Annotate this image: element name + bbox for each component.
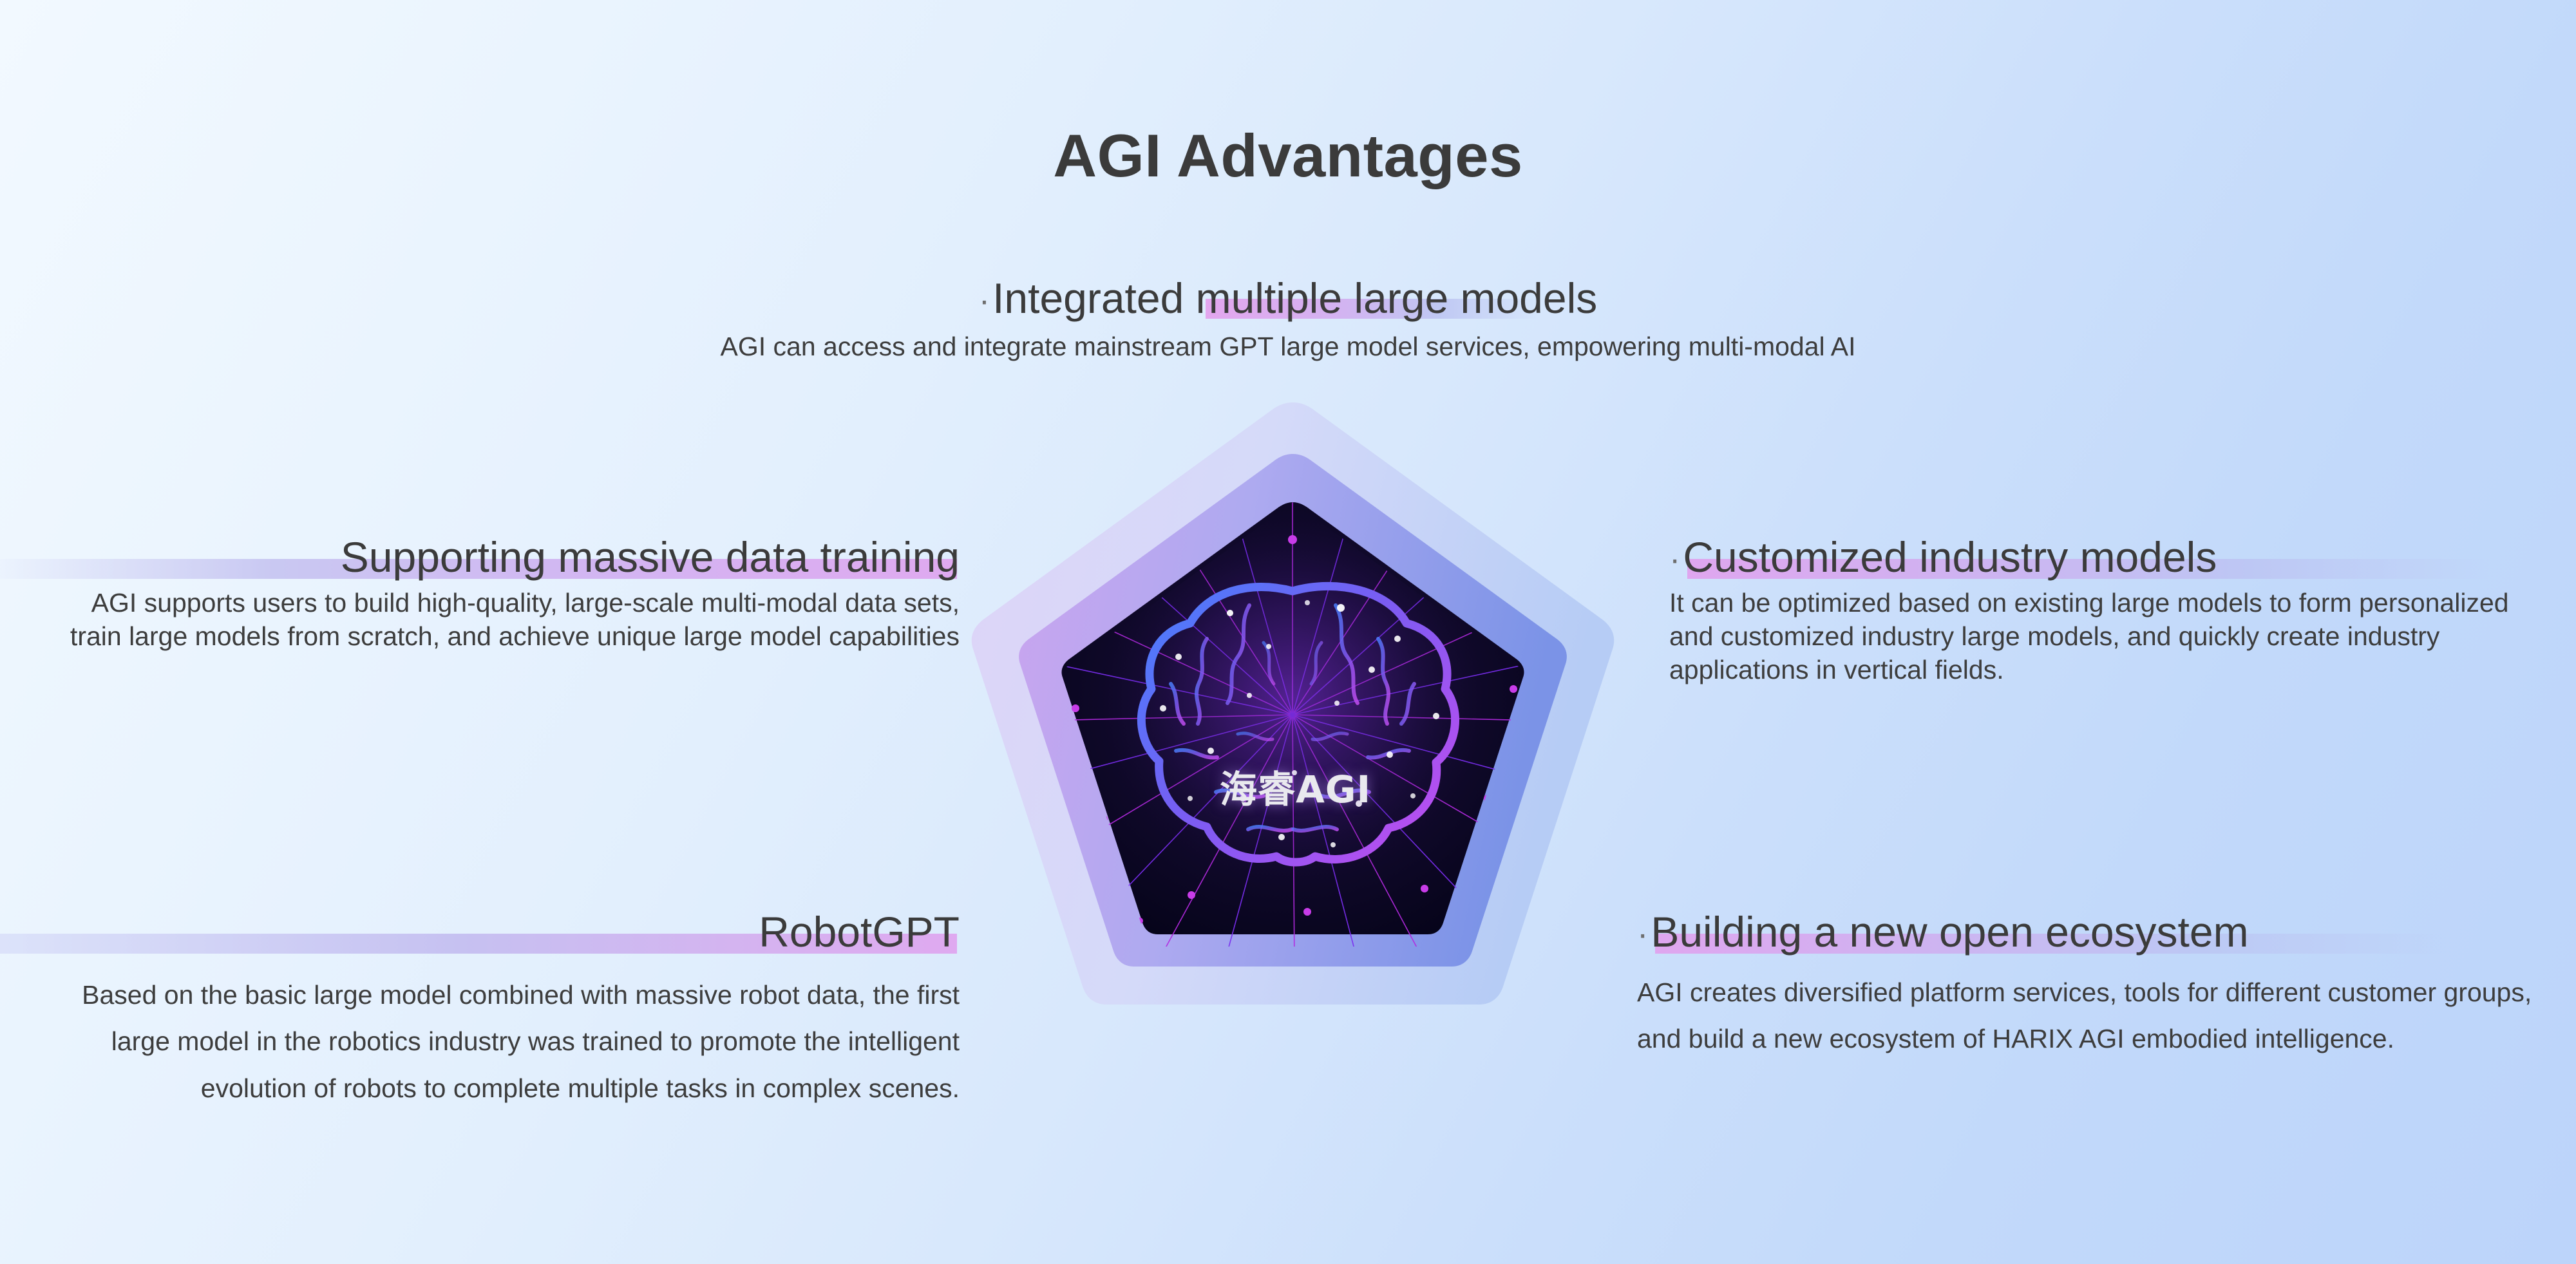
feature-heading-robotgpt: ·RobotGPT bbox=[39, 909, 960, 955]
heading-text: Integrated multiple large models bbox=[992, 274, 1597, 322]
feature-heading-integrated-models: ·Integrated multiple large models bbox=[979, 276, 1598, 321]
feature-block-data-training: ·Supporting massive data training AGI su… bbox=[58, 534, 960, 654]
feature-body-robotgpt: Based on the basic large model combined … bbox=[39, 972, 960, 1111]
bullet-dot-icon: · bbox=[1669, 541, 1683, 578]
feature-block-robotgpt: ·RobotGPT Based on the basic large model… bbox=[39, 909, 960, 1111]
feature-block-open-ecosystem: ·Building a new open ecosystem AGI creat… bbox=[1637, 909, 2539, 1062]
feature-heading-industry-models: ·Customized industry models bbox=[1669, 534, 2545, 580]
heading-text: Customized industry models bbox=[1683, 533, 2217, 581]
feature-heading-open-ecosystem: ·Building a new open ecosystem bbox=[1637, 909, 2539, 955]
feature-body-industry-models: It can be optimized based on existing la… bbox=[1669, 587, 2545, 686]
feature-body-open-ecosystem: AGI creates diversified platform service… bbox=[1637, 969, 2539, 1062]
feature-body-integrated-models: AGI can access and integrate mainstream … bbox=[0, 330, 2576, 364]
heading-text: Supporting massive data training bbox=[341, 533, 960, 581]
heading-text: Building a new open ecosystem bbox=[1651, 908, 2248, 956]
page-title: AGI Advantages bbox=[0, 121, 2576, 191]
bullet-dot-icon: · bbox=[745, 916, 759, 953]
feature-body-data-training: AGI supports users to build high-quality… bbox=[58, 587, 960, 653]
bullet-dot-icon: · bbox=[327, 541, 340, 578]
bullet-dot-icon: · bbox=[979, 282, 992, 319]
feature-heading-data-training: ·Supporting massive data training bbox=[58, 534, 960, 580]
feature-block-industry-models: ·Customized industry models It can be op… bbox=[1669, 534, 2545, 686]
heading-text: RobotGPT bbox=[759, 908, 960, 956]
feature-block-integrated-models: ·Integrated multiple large models AGI ca… bbox=[0, 276, 2576, 364]
bullet-dot-icon: · bbox=[1637, 916, 1651, 953]
pentagon-brain-graphic: 海睿AGI bbox=[947, 386, 1639, 1191]
